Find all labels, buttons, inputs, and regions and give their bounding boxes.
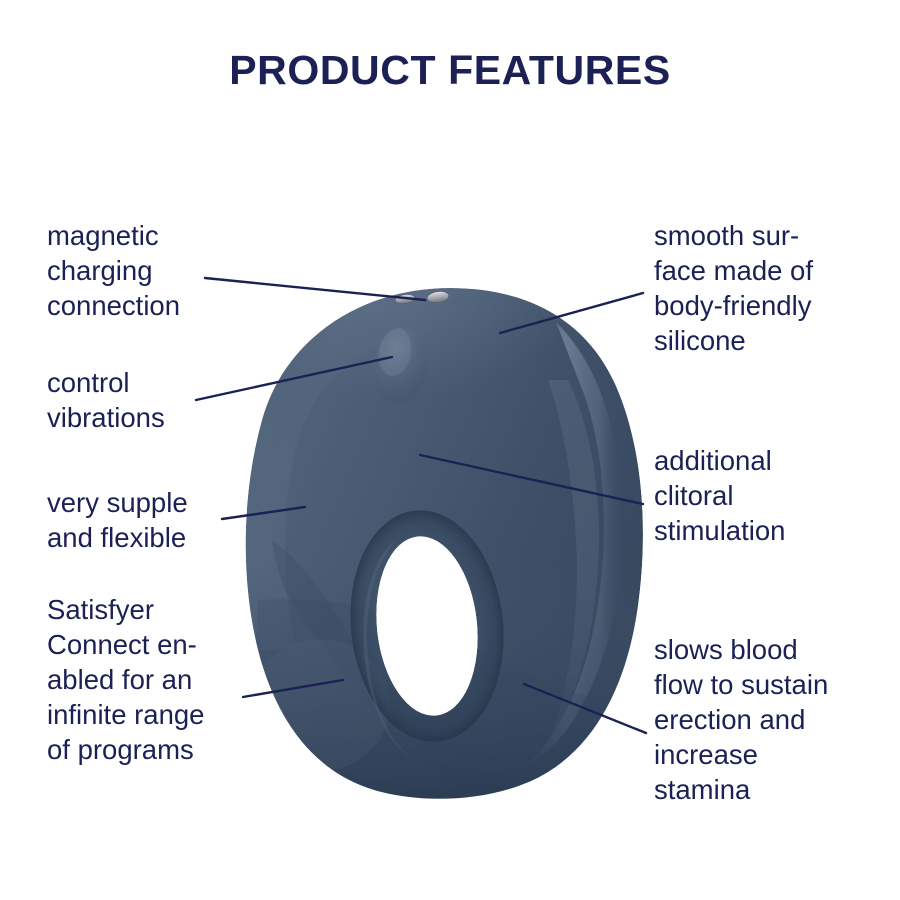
callout-magnetic-charging-connection: magnetic charging connection bbox=[47, 218, 180, 323]
product-features-infographic: PRODUCT FEATURES bbox=[0, 0, 900, 900]
callout-slows-blood-flow: slows blood flow to sustain erection and… bbox=[654, 632, 828, 807]
callout-control-vibrations: control vibrations bbox=[47, 365, 165, 435]
callout-smooth-surface-silicone: smooth sur- face made of body-friendly s… bbox=[654, 218, 813, 358]
callout-additional-clitoral-stimulation: additional clitoral stimulation bbox=[654, 443, 785, 548]
callout-very-supple-and-flexible: very supple and flexible bbox=[47, 485, 188, 555]
callout-satisfyer-connect: Satisfyer Connect en- abled for an infin… bbox=[47, 592, 204, 767]
